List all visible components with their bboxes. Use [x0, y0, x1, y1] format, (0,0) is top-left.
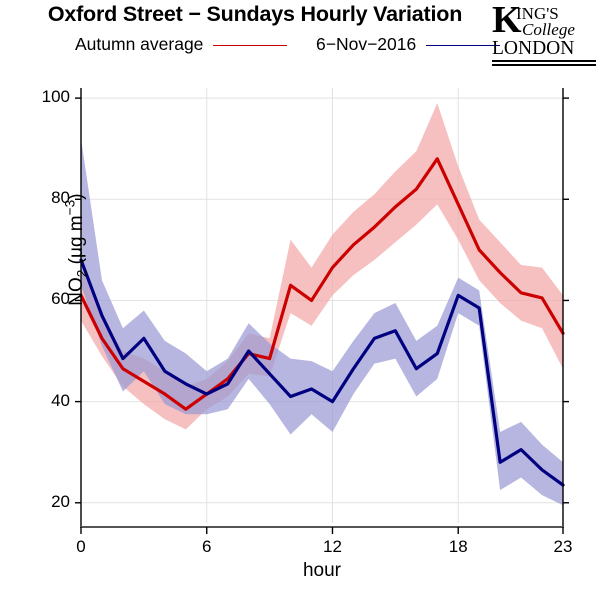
y-tick-label: 100: [20, 87, 70, 107]
y-tick-label: 60: [20, 289, 70, 309]
x-tick-label: 6: [182, 537, 232, 557]
chart-plot-area: [0, 0, 600, 593]
x-tick-label: 12: [307, 537, 357, 557]
confidence-band-nov6: [81, 139, 563, 506]
y-axis-title-subscript: 2: [75, 270, 90, 278]
x-tick-label: 18: [433, 537, 483, 557]
x-tick-label: 0: [56, 537, 106, 557]
chart-page: Oxford Street − Sundays Hourly Variation…: [0, 0, 600, 593]
y-axis-unit-open: (μg m: [66, 215, 87, 269]
y-tick-label: 20: [20, 492, 70, 512]
y-tick-label: 80: [20, 188, 70, 208]
chart-svg: [0, 0, 600, 593]
x-tick-label: 23: [538, 537, 588, 557]
x-axis-title: hour: [81, 560, 563, 582]
y-tick-label: 40: [20, 391, 70, 411]
